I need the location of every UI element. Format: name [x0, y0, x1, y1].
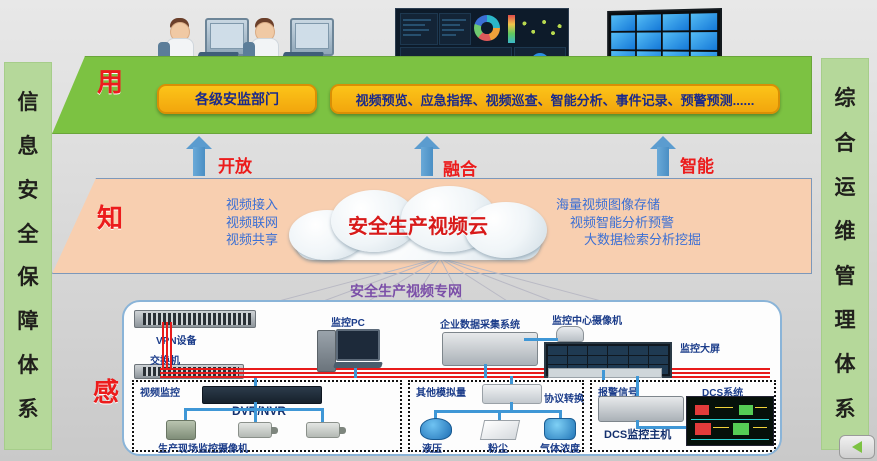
- hydraulic-sensor-icon: [420, 418, 452, 440]
- departments-box[interactable]: 各级安监部门: [157, 84, 317, 114]
- arrow-up-icon: [414, 136, 440, 176]
- switch-label: 交换机: [150, 352, 180, 367]
- ptz-camera-icon: [166, 420, 196, 440]
- gas-sensor-icon: [544, 418, 576, 440]
- perception-layer-panel: VPN设备 交换机 监控PC 企业数据采集系统 监控中心摄像机: [122, 300, 782, 456]
- cloud-right-item: 大数据检索分析挖掘: [556, 231, 766, 249]
- analog-signal-title: 其他模拟量: [416, 384, 466, 399]
- right-banner-char: 系: [835, 399, 856, 420]
- hydraulic-sensor-label: 液压: [422, 440, 442, 455]
- cloud-left-capabilities: 视频接入 视频联网 视频共享: [150, 196, 278, 249]
- layer-tag-sense: 感: [93, 372, 119, 409]
- left-banner-char: 体: [18, 355, 39, 376]
- arrow-label-fuse: 融合: [443, 155, 477, 180]
- left-banner-char: 信: [18, 92, 39, 113]
- right-banner-char: 理: [835, 310, 856, 331]
- right-banner-char: 管: [835, 266, 856, 287]
- right-banner-char: 合: [835, 133, 856, 154]
- dust-sensor-label: 粉尘: [488, 440, 508, 455]
- architecture-diagram: 信 息 安 全 保 障 体 系 综 合 运 维 管 理 体 系: [0, 0, 877, 461]
- cloud-left-item: 视频联网: [150, 214, 278, 232]
- functions-box[interactable]: 视频预览、应急指挥、视频巡查、智能分析、事件记录、预警预测......: [330, 84, 780, 114]
- left-banner-char: 安: [18, 180, 39, 201]
- control-desk-icon: [548, 368, 662, 378]
- arrow-up-icon: [650, 136, 676, 176]
- dvr-nvr-label: DVR/NVR: [232, 404, 286, 418]
- arrow-label-open: 开放: [218, 152, 252, 177]
- dvr-nvr-icon: [202, 386, 322, 404]
- cloud-title: 安全生产视频云: [283, 210, 553, 239]
- left-banner-char: 全: [18, 224, 39, 245]
- protocol-converter-icon: [482, 384, 542, 404]
- pc-keyboard-icon: [333, 362, 383, 368]
- video-surveillance-title: 视频监控: [140, 384, 180, 399]
- left-banner-char: 保: [18, 267, 39, 288]
- layer-tag-know: 知: [97, 198, 123, 235]
- arrow-up-icon: [186, 136, 212, 176]
- right-banner-char: 体: [835, 354, 856, 375]
- cloud-right-capabilities: 海量视频图像存储 视频智能分析预警 大数据检索分析挖掘: [556, 196, 766, 249]
- left-banner-char: 障: [18, 311, 39, 332]
- site-cameras-label: 生产现场监控摄像机: [158, 440, 248, 455]
- right-banner-char: 运: [835, 177, 856, 198]
- dome-camera-icon: [556, 326, 584, 342]
- left-side-banner: 信 息 安 全 保 障 体 系: [4, 62, 52, 450]
- corner-widget-icon[interactable]: [839, 435, 875, 459]
- dcs-host-icon: [598, 396, 684, 422]
- cloud-left-item: 视频共享: [150, 231, 278, 249]
- control-center-camera-label: 监控中心摄像机: [552, 312, 622, 327]
- monitor-pc-label: 监控PC: [331, 314, 365, 329]
- monitor-big-screen-label: 监控大屏: [680, 340, 720, 355]
- private-network-label: 安全生产视频专网: [350, 281, 462, 301]
- right-banner-char: 维: [835, 221, 856, 242]
- layer-tag-use: 用: [97, 62, 123, 99]
- box-camera-icon: [306, 422, 340, 438]
- pc-monitor-icon: [336, 329, 380, 361]
- cloud-right-item: 视频智能分析预警: [556, 214, 766, 232]
- dust-sensor-icon: [480, 420, 520, 440]
- vpn-device-icon: [134, 310, 256, 328]
- protocol-converter-label: 协议转换: [544, 390, 584, 405]
- cloud-right-item: 海量视频图像存储: [556, 196, 766, 214]
- dcs-system-screen: [686, 396, 774, 446]
- left-banner-char: 息: [18, 136, 39, 157]
- right-side-banner: 综 合 运 维 管 理 体 系: [821, 58, 869, 450]
- video-cloud-shape: 安全生产视频云: [283, 186, 553, 262]
- enterprise-data-system-label: 企业数据采集系统: [440, 316, 520, 331]
- operator-workstation: [290, 18, 334, 56]
- box-camera-icon: [238, 422, 272, 438]
- right-banner-char: 综: [835, 88, 856, 109]
- left-banner-char: 系: [18, 399, 39, 420]
- cloud-left-item: 视频接入: [150, 196, 278, 214]
- gas-sensor-label: 气体浓度: [540, 440, 580, 455]
- arrow-label-smart: 智能: [680, 152, 714, 177]
